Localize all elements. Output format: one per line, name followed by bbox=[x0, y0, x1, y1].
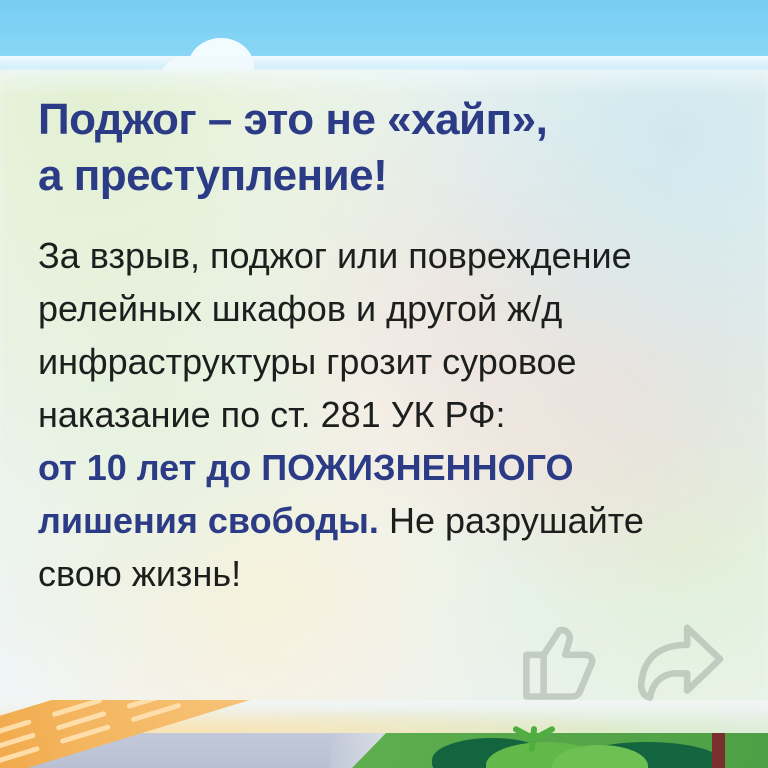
penalty-emphasis: ПОЖИЗНЕННОГО bbox=[261, 447, 573, 488]
body-line-2: релейных шкафов и другой ж/д bbox=[38, 282, 744, 335]
closing-text-1: Не разрушайте bbox=[379, 500, 644, 541]
red-post bbox=[712, 733, 725, 768]
body-line-4: наказание по ст. 281 УК РФ: bbox=[38, 388, 744, 441]
body-line-3: инфраструктуры грозит суровое bbox=[38, 335, 744, 388]
share-arrow-icon bbox=[630, 616, 730, 708]
social-icons bbox=[512, 612, 742, 712]
penalty-line-2: лишения свободы. Не разрушайте bbox=[38, 494, 744, 547]
page-title: Поджог – это не «хайп», а преступление! bbox=[38, 92, 744, 204]
background-haze bbox=[0, 56, 768, 96]
thumbs-up-icon bbox=[512, 616, 604, 708]
closing-text-2: свою жизнь! bbox=[38, 547, 744, 600]
text-block: Поджог – это не «хайп», а преступление! … bbox=[38, 92, 744, 600]
body-line-1: За взрыв, поджог или повреждение bbox=[38, 229, 744, 282]
penalty-line-1: от 10 лет до ПОЖИЗНЕННОГО bbox=[38, 441, 744, 494]
penalty-suffix: лишения свободы. bbox=[38, 500, 379, 541]
penalty-prefix: от 10 лет до bbox=[38, 447, 261, 488]
body-text: За взрыв, поджог или повреждение релейны… bbox=[38, 229, 744, 600]
poster: Поджог – это не «хайп», а преступление! … bbox=[0, 0, 768, 768]
